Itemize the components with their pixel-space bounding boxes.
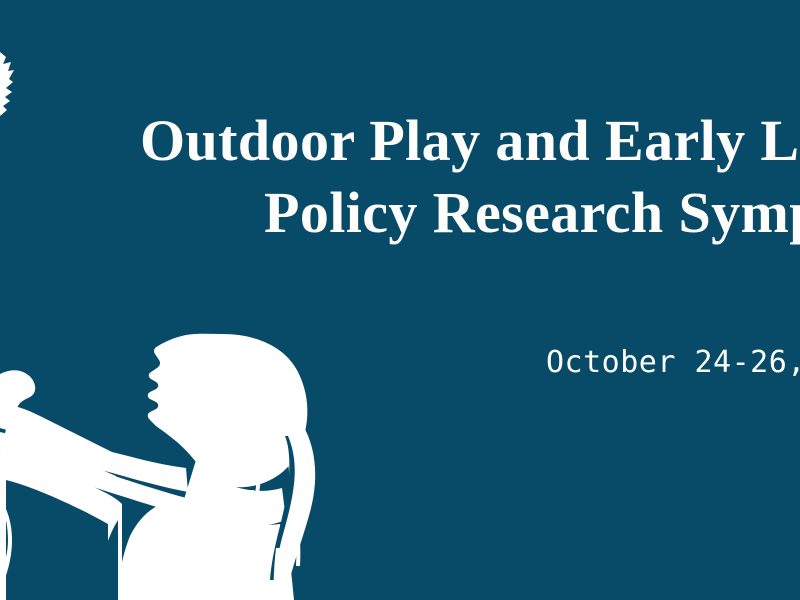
banner-text-layer: Outdoor Play and Early Lear Policy Resea… (0, 0, 800, 600)
event-title-line-2: Policy Research Sympos (264, 184, 800, 242)
event-banner: Outdoor Play and Early Lear Policy Resea… (0, 0, 800, 600)
event-title-line-1: Outdoor Play and Early Lear (140, 112, 800, 170)
event-date: October 24-26, (546, 348, 800, 378)
